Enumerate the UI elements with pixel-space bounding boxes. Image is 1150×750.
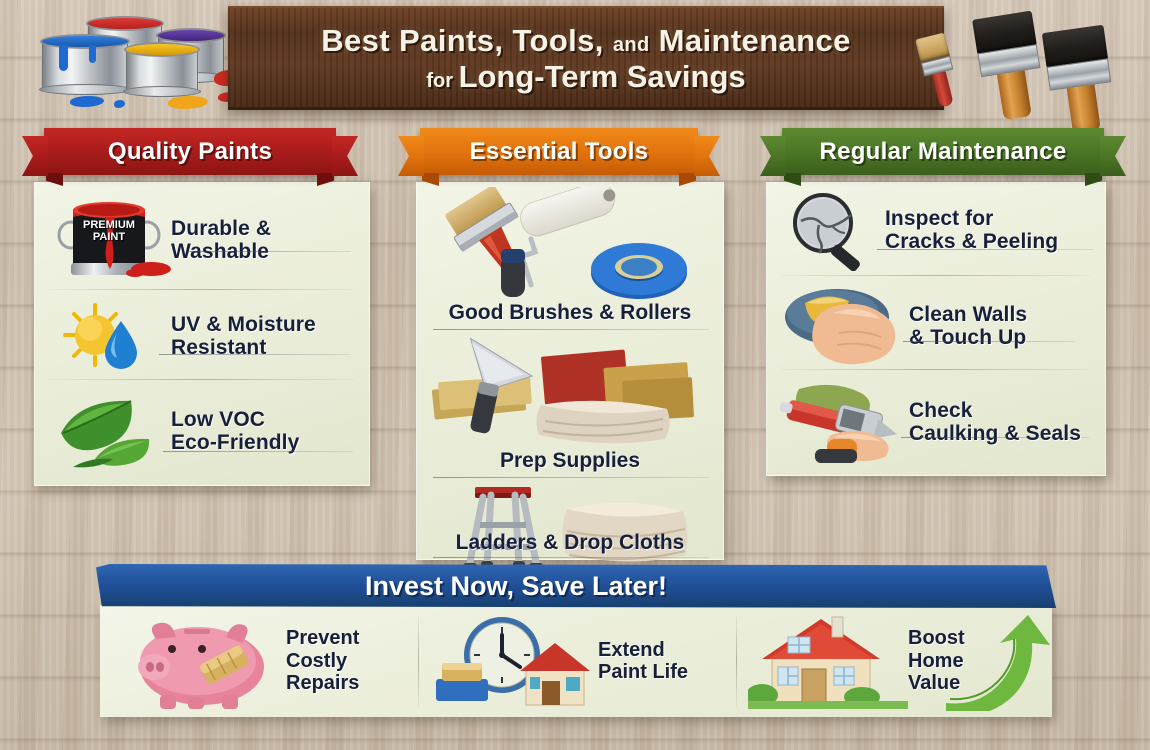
ribbon-tail-right bbox=[1100, 136, 1126, 176]
label-line-2: Paint Life bbox=[598, 661, 688, 683]
putty-knife-sandpaper-icon bbox=[417, 335, 723, 451]
item-separator bbox=[781, 275, 1091, 276]
item-separator bbox=[781, 369, 1091, 370]
paint-brushes-art bbox=[924, 0, 1144, 120]
item-caption-brushes: Good Brushes & Rollers bbox=[417, 301, 723, 325]
footer-item-extend-paint-life[interactable]: Extend Paint Life bbox=[430, 605, 736, 717]
label-line-1: Clean Walls bbox=[909, 304, 1027, 327]
label-line-1: Prevent bbox=[286, 627, 359, 649]
paint-can-label-line1: PREMIUM bbox=[77, 219, 141, 231]
ribbon-tail-right bbox=[694, 136, 720, 176]
list-item-label: UV & Moisture Resistant bbox=[171, 314, 316, 359]
label-line-1: Inspect for bbox=[885, 208, 1058, 231]
header-region: Best Paints, Tools, and Maintenance for … bbox=[0, 0, 1150, 120]
paint-splatter-blue-small bbox=[114, 100, 125, 108]
label-underline bbox=[163, 451, 353, 452]
label-line-3: Value bbox=[908, 672, 965, 694]
list-item-durable-washable[interactable]: PREMIUM PAINT Durable & Washable bbox=[43, 193, 363, 289]
section-banner-label: Regular Maintenance bbox=[819, 138, 1066, 166]
label-underline bbox=[901, 437, 1089, 438]
section-banner-label: Essential Tools bbox=[470, 138, 649, 166]
label-line-2: & Touch Up bbox=[909, 327, 1027, 350]
ribbon-tail-left bbox=[22, 136, 48, 176]
sun-and-water-drop-icon bbox=[43, 299, 171, 375]
label-line-2: Cracks & Peeling bbox=[885, 231, 1058, 254]
hand-sponge-icon bbox=[775, 283, 909, 371]
section-banner-label: Quality Paints bbox=[108, 138, 272, 166]
label-underline bbox=[187, 251, 351, 252]
card-essential-tools: Good Brushes & Rollers bbox=[416, 182, 724, 560]
paint-can-yellow bbox=[126, 48, 198, 94]
list-item-label: Inspect for Cracks & Peeling bbox=[885, 208, 1058, 253]
label-underline bbox=[903, 341, 1075, 342]
list-item-label: Clean Walls & Touch Up bbox=[909, 304, 1027, 349]
paint-brush-large bbox=[1042, 25, 1118, 137]
infographic-canvas: Best Paints, Tools, and Maintenance for … bbox=[0, 0, 1150, 750]
label-line-1: UV & Moisture bbox=[171, 314, 316, 337]
item-caption-ladders: Ladders & Drop Cloths bbox=[417, 531, 723, 555]
list-item-low-voc[interactable]: Low VOC Eco-Friendly bbox=[43, 387, 363, 477]
footer-benefits-strip: Prevent Costly Repairs bbox=[100, 605, 1052, 717]
paint-cans-art bbox=[18, 4, 248, 116]
label-line-2: Washable bbox=[171, 241, 271, 264]
item-caption-prep: Prep Supplies bbox=[417, 449, 723, 473]
footer-item-label: Extend Paint Life bbox=[598, 639, 688, 684]
label-line-2: Caulking & Seals bbox=[909, 423, 1081, 446]
list-item-check-caulking[interactable]: Check Caulking & Seals bbox=[775, 375, 1101, 471]
piggy-bank-icon bbox=[110, 611, 286, 711]
section-banner-essential-tools[interactable]: Essential Tools bbox=[420, 128, 698, 175]
strip-divider-1 bbox=[418, 615, 419, 707]
ribbon-tail-right bbox=[332, 136, 358, 176]
strip-divider-2 bbox=[736, 615, 737, 707]
house-growth-arrow-icon bbox=[748, 611, 908, 711]
paint-can-label-line2: PAINT bbox=[77, 231, 141, 243]
footer-banner-label: Invest Now, Save Later! bbox=[365, 571, 667, 602]
footer-item-boost-home-value[interactable]: Boost Home Value bbox=[748, 605, 1048, 717]
label-line-1: Low VOC bbox=[171, 409, 299, 432]
caulking-gun-icon bbox=[775, 377, 909, 469]
title-part-b: Maintenance bbox=[650, 23, 851, 58]
label-line-1: Durable & bbox=[171, 218, 271, 241]
footer-item-prevent-costly-repairs[interactable]: Prevent Costly Repairs bbox=[110, 605, 418, 717]
title-part-for: for bbox=[426, 70, 458, 92]
list-item-inspect-cracks[interactable]: Inspect for Cracks & Peeling bbox=[775, 189, 1101, 273]
section-banner-regular-maintenance[interactable]: Regular Maintenance bbox=[782, 128, 1104, 175]
item-separator bbox=[49, 379, 355, 380]
list-item-label: Durable & Washable bbox=[171, 218, 271, 263]
label-line-3: Repairs bbox=[286, 672, 359, 694]
paint-can-icon: PREMIUM PAINT bbox=[43, 195, 171, 287]
caption-underline bbox=[433, 329, 709, 330]
paint-splatter-yellow bbox=[168, 96, 208, 109]
page-title: Best Paints, Tools, and Maintenance for … bbox=[228, 12, 944, 106]
title-part-and: and bbox=[613, 34, 650, 56]
clock-house-icon bbox=[430, 611, 598, 711]
label-line-2: Costly bbox=[286, 650, 359, 672]
label-line-2: Home bbox=[908, 650, 965, 672]
list-item-clean-walls[interactable]: Clean Walls & Touch Up bbox=[775, 281, 1101, 373]
paint-splatter-blue bbox=[70, 96, 104, 107]
paint-brush-medium bbox=[972, 11, 1048, 123]
ribbon-tail-left bbox=[760, 136, 786, 176]
list-item-label: Low VOC Eco-Friendly bbox=[171, 409, 299, 454]
item-separator bbox=[49, 289, 355, 290]
list-item-uv-moisture[interactable]: UV & Moisture Resistant bbox=[43, 297, 363, 377]
title-part-a: Best Paints, Tools, bbox=[321, 23, 613, 58]
label-underline bbox=[877, 249, 1093, 250]
section-banner-quality-paints[interactable]: Quality Paints bbox=[44, 128, 336, 175]
card-regular-maintenance: Inspect for Cracks & Peeling bbox=[766, 182, 1106, 476]
ribbon-tail-left bbox=[398, 136, 424, 176]
label-line-1: Extend bbox=[598, 639, 688, 661]
footer-banner[interactable]: Invest Now, Save Later! bbox=[96, 564, 1056, 608]
magnifier-crack-icon bbox=[775, 191, 885, 271]
label-underline bbox=[159, 354, 351, 355]
footer-item-label: Boost Home Value bbox=[908, 627, 965, 694]
card-quality-paints: PREMIUM PAINT Durable & Washable bbox=[34, 182, 370, 486]
caption-underline bbox=[433, 477, 709, 478]
paint-can-blue bbox=[42, 40, 128, 92]
title-part-subject: Long-Term Savings bbox=[459, 59, 746, 94]
label-line-1: Boost bbox=[908, 627, 965, 649]
label-line-1: Check bbox=[909, 400, 1081, 423]
caption-underline bbox=[433, 557, 709, 558]
label-line-2: Resistant bbox=[171, 337, 316, 360]
brush-roller-tape-icon bbox=[417, 187, 723, 305]
footer-item-label: Prevent Costly Repairs bbox=[286, 627, 359, 694]
list-item-label: Check Caulking & Seals bbox=[909, 400, 1081, 445]
green-leaves-icon bbox=[43, 389, 171, 475]
